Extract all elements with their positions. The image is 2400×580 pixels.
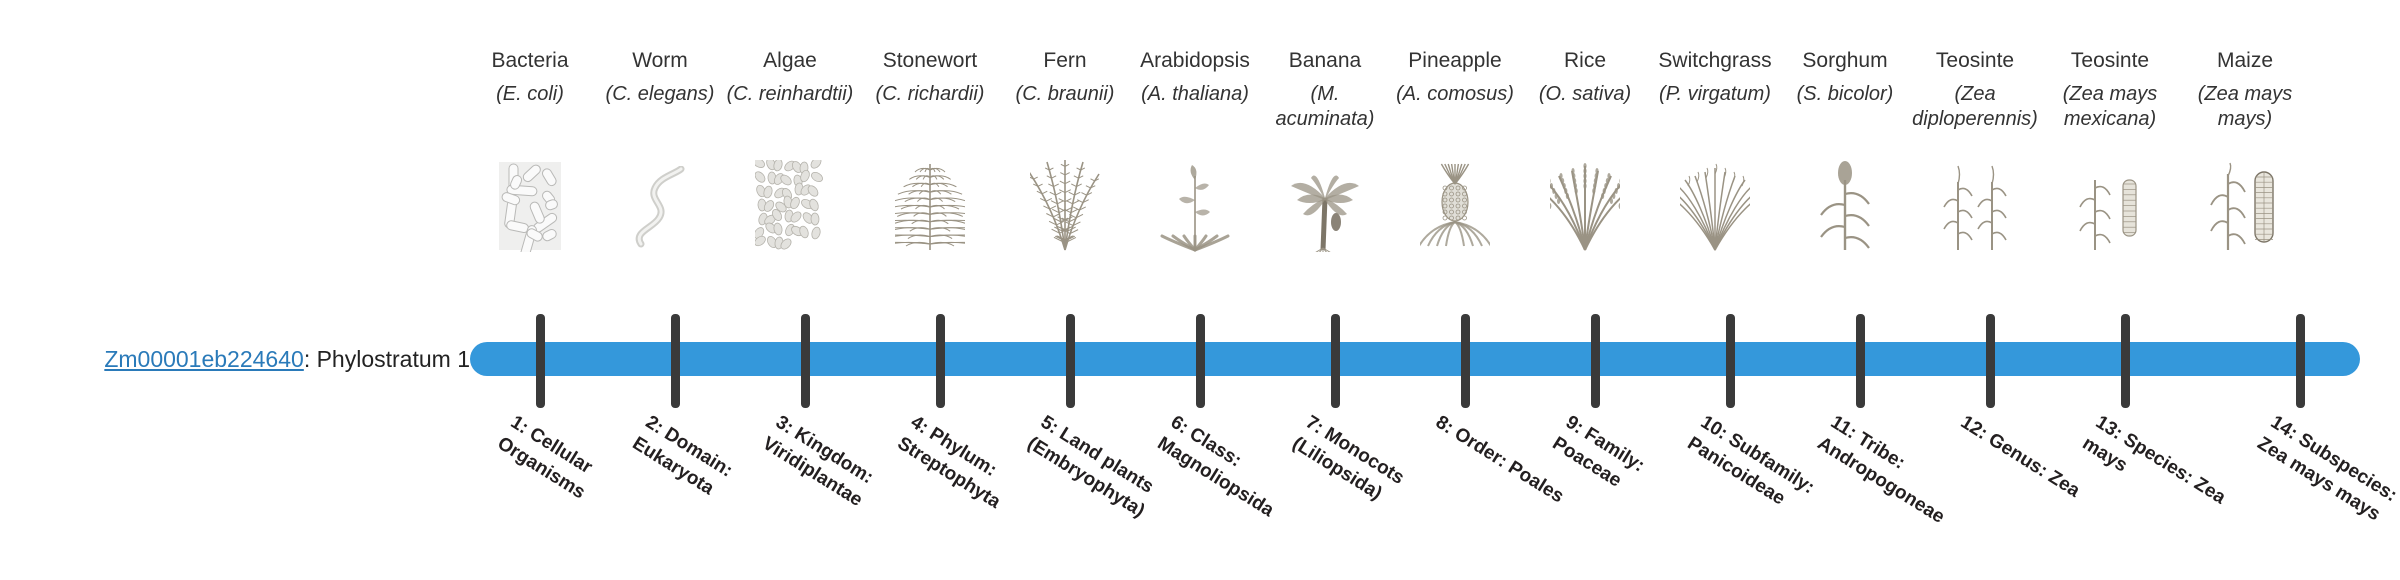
phylostratum-tick[interactable]: [1591, 314, 1600, 408]
stratum-label: 8: Order: Poales: [1431, 410, 1571, 511]
stonewort-icon: [870, 156, 990, 252]
stratum-rank: Genus:: [1985, 429, 2052, 481]
maize-icon: [2185, 156, 2305, 252]
species-common-name: Bacteria: [466, 48, 594, 74]
fern-icon: [1005, 156, 1125, 252]
species-common-name: Algae: [726, 48, 854, 74]
species-common-name: Stonewort: [866, 48, 994, 74]
species-column: Rice(O. sativa): [1521, 48, 1649, 107]
stratum-label: 10: Subfamily: Panicoideae: [1683, 410, 1837, 532]
phylostratum-tick[interactable]: [1726, 314, 1735, 408]
species-common-name: Switchgrass: [1651, 48, 1779, 74]
strata-track: 1: Cellular Organisms2: Domain: Eukaryot…: [0, 410, 2400, 580]
species-common-name: Worm: [596, 48, 724, 74]
species-common-name: Arabidopsis: [1131, 48, 1259, 74]
algae-icon: [730, 156, 850, 252]
teosinte-mex-icon: [2050, 156, 2170, 252]
species-column: Stonewort(C. richardii): [866, 48, 994, 107]
banana-icon: [1265, 156, 1385, 252]
species-latin-name: (Zea diploperennis): [1911, 82, 2039, 132]
species-latin-name: (Zea mays mexicana): [2046, 82, 2174, 132]
stratum-label: 6: Class: Magnoliopsida: [1153, 410, 1307, 532]
species-common-name: Maize: [2181, 48, 2309, 74]
species-latin-name: (A. comosus): [1391, 82, 1519, 107]
species-column: Maize(Zea mays mays): [2181, 48, 2309, 132]
phylostratum-tick[interactable]: [536, 314, 545, 408]
species-column: Worm(C. elegans): [596, 48, 724, 107]
stratum-label: 5: Land plants (Embryophyta): [1023, 410, 1177, 532]
stratum-label: 12: Genus: Zea: [1956, 410, 2096, 511]
stratum-label: 4: Phylum: Streptophyta: [893, 410, 1047, 532]
species-column: Algae(C. reinhardtii): [726, 48, 854, 107]
phylostratum-tick[interactable]: [1066, 314, 1075, 408]
phylostratum-tick[interactable]: [1856, 314, 1865, 408]
species-latin-name: (S. bicolor): [1781, 82, 1909, 107]
stratum-rank: Order:: [1451, 423, 1511, 472]
teosinte-dip-icon: [1915, 156, 2035, 252]
species-column: Switchgrass(P. virgatum): [1651, 48, 1779, 107]
phylostratum-tick[interactable]: [1986, 314, 1995, 408]
species-column: Teosinte(Zea diploperennis): [1911, 48, 2039, 132]
phylostratum-tick[interactable]: [936, 314, 945, 408]
stratum-rank: Species:: [2120, 429, 2197, 488]
stratum-label: 7: Monocots (Liliopsida): [1288, 410, 1442, 532]
species-latin-name: (Zea mays mays): [2181, 82, 2309, 132]
phylostratum-tick[interactable]: [801, 314, 810, 408]
phylostratum-tick[interactable]: [1331, 314, 1340, 408]
switchgrass-icon: [1655, 156, 1775, 252]
species-column: Bacteria(E. coli): [466, 48, 594, 107]
species-latin-name: (O. sativa): [1521, 82, 1649, 107]
species-common-name: Teosinte: [1911, 48, 2039, 74]
timeline-bar-area: [0, 330, 2400, 390]
species-common-name: Banana: [1261, 48, 1389, 74]
arabidopsis-icon: [1135, 156, 1255, 252]
species-column: Pineapple(A. comosus): [1391, 48, 1519, 107]
species-common-name: Teosinte: [2046, 48, 2174, 74]
phylostratum-tick[interactable]: [2121, 314, 2130, 408]
phylostratum-tick[interactable]: [1196, 314, 1205, 408]
stratum-label: 2: Domain: Eukaryota: [628, 410, 782, 532]
stratum-label: 14: Subspecies: Zea mays mays: [2253, 410, 2400, 532]
stratum-taxon: Zea: [2045, 467, 2084, 502]
pineapple-icon: [1395, 156, 1515, 252]
phylostratum-tick[interactable]: [2296, 314, 2305, 408]
phylostratum-tick[interactable]: [671, 314, 680, 408]
phylostratum-tick[interactable]: [1461, 314, 1470, 408]
species-latin-name: (E. coli): [466, 82, 594, 107]
species-latin-name: (P. virgatum): [1651, 82, 1779, 107]
phylostratum-bar[interactable]: [470, 342, 2360, 376]
stratum-taxon: Poales: [1504, 457, 1567, 507]
stratum-label: 9: Family: Poaceae: [1548, 410, 1702, 532]
species-latin-name: (C. richardii): [866, 82, 994, 107]
species-column: Banana(M. acuminata): [1261, 48, 1389, 132]
stratum-number: 12:: [1957, 412, 1991, 444]
sorghum-icon: [1785, 156, 1905, 252]
species-latin-name: (A. thaliana): [1131, 82, 1259, 107]
species-track: Bacteria(E. coli)Worm(C. elegans)Algae(C…: [470, 48, 2370, 308]
species-column: Arabidopsis(A. thaliana): [1131, 48, 1259, 107]
species-common-name: Rice: [1521, 48, 1649, 74]
stratum-label: 1: Cellular Organisms: [493, 410, 647, 532]
species-latin-name: (C. braunii): [1001, 82, 1129, 107]
stratum-label: 3: Kingdom: Viridiplantae: [758, 410, 912, 532]
stratum-label: 13: Species: Zea mays: [2078, 410, 2232, 532]
species-column: Sorghum(S. bicolor): [1781, 48, 1909, 107]
worm-icon: [600, 156, 720, 252]
bacteria-icon: [470, 156, 590, 252]
species-common-name: Pineapple: [1391, 48, 1519, 74]
species-latin-name: (M. acuminata): [1261, 82, 1389, 132]
stratum-label: 11: Tribe: Andropogoneae: [1813, 410, 1967, 532]
species-latin-name: (C. elegans): [596, 82, 724, 107]
species-latin-name: (C. reinhardtii): [726, 82, 854, 107]
species-common-name: Fern: [1001, 48, 1129, 74]
species-column: Fern(C. braunii): [1001, 48, 1129, 107]
phylostratigraphy-figure: Zm00001eb224640: Phylostratum 1 Bacteria…: [0, 0, 2400, 580]
species-common-name: Sorghum: [1781, 48, 1909, 74]
species-column: Teosinte(Zea mays mexicana): [2046, 48, 2174, 132]
rice-icon: [1525, 156, 1645, 252]
